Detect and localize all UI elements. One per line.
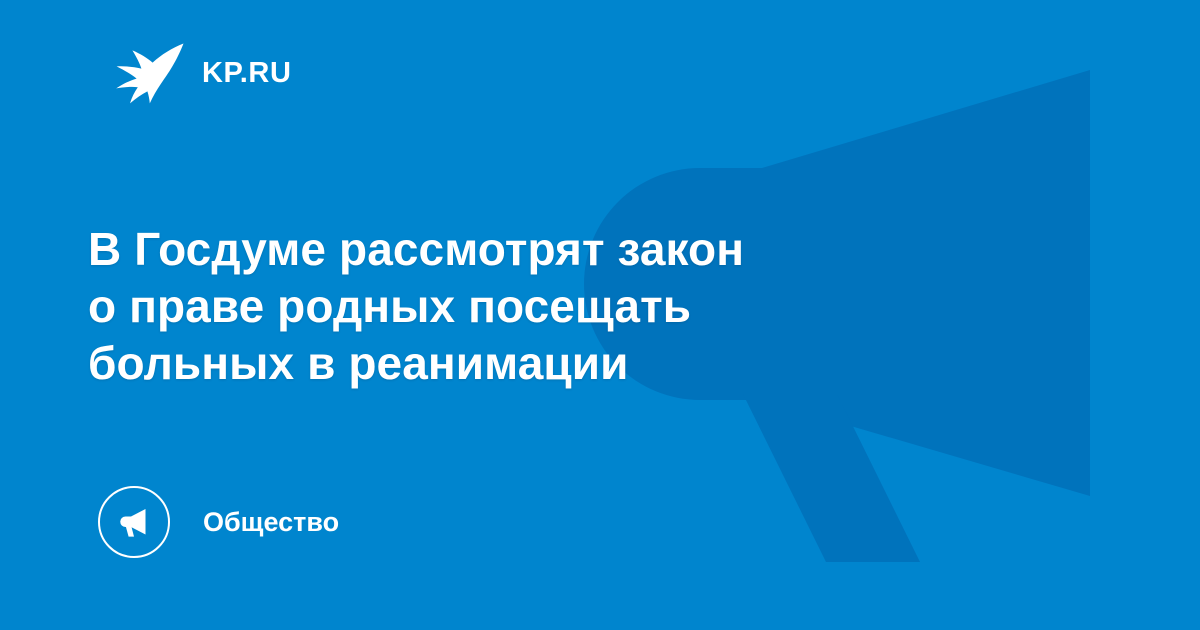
headline-line-2: о праве родных посещать <box>88 278 968 335</box>
category-badge-group[interactable]: Общество <box>98 486 339 558</box>
headline-line-3: больных в реанимации <box>88 335 968 392</box>
swallow-bird-icon <box>112 42 186 104</box>
headline: В Госдуме рассмотрят закон о праве родны… <box>88 221 968 392</box>
social-share-card: KP.RU В Госдуме рассмотрят закон о праве… <box>0 0 1200 630</box>
megaphone-icon <box>114 502 154 542</box>
category-label: Общество <box>203 509 339 536</box>
headline-line-1: В Госдуме рассмотрят закон <box>88 221 968 278</box>
category-icon-circle[interactable] <box>98 486 170 558</box>
brand-name: KP.RU <box>202 59 292 88</box>
brand-logo[interactable]: KP.RU <box>112 42 292 104</box>
